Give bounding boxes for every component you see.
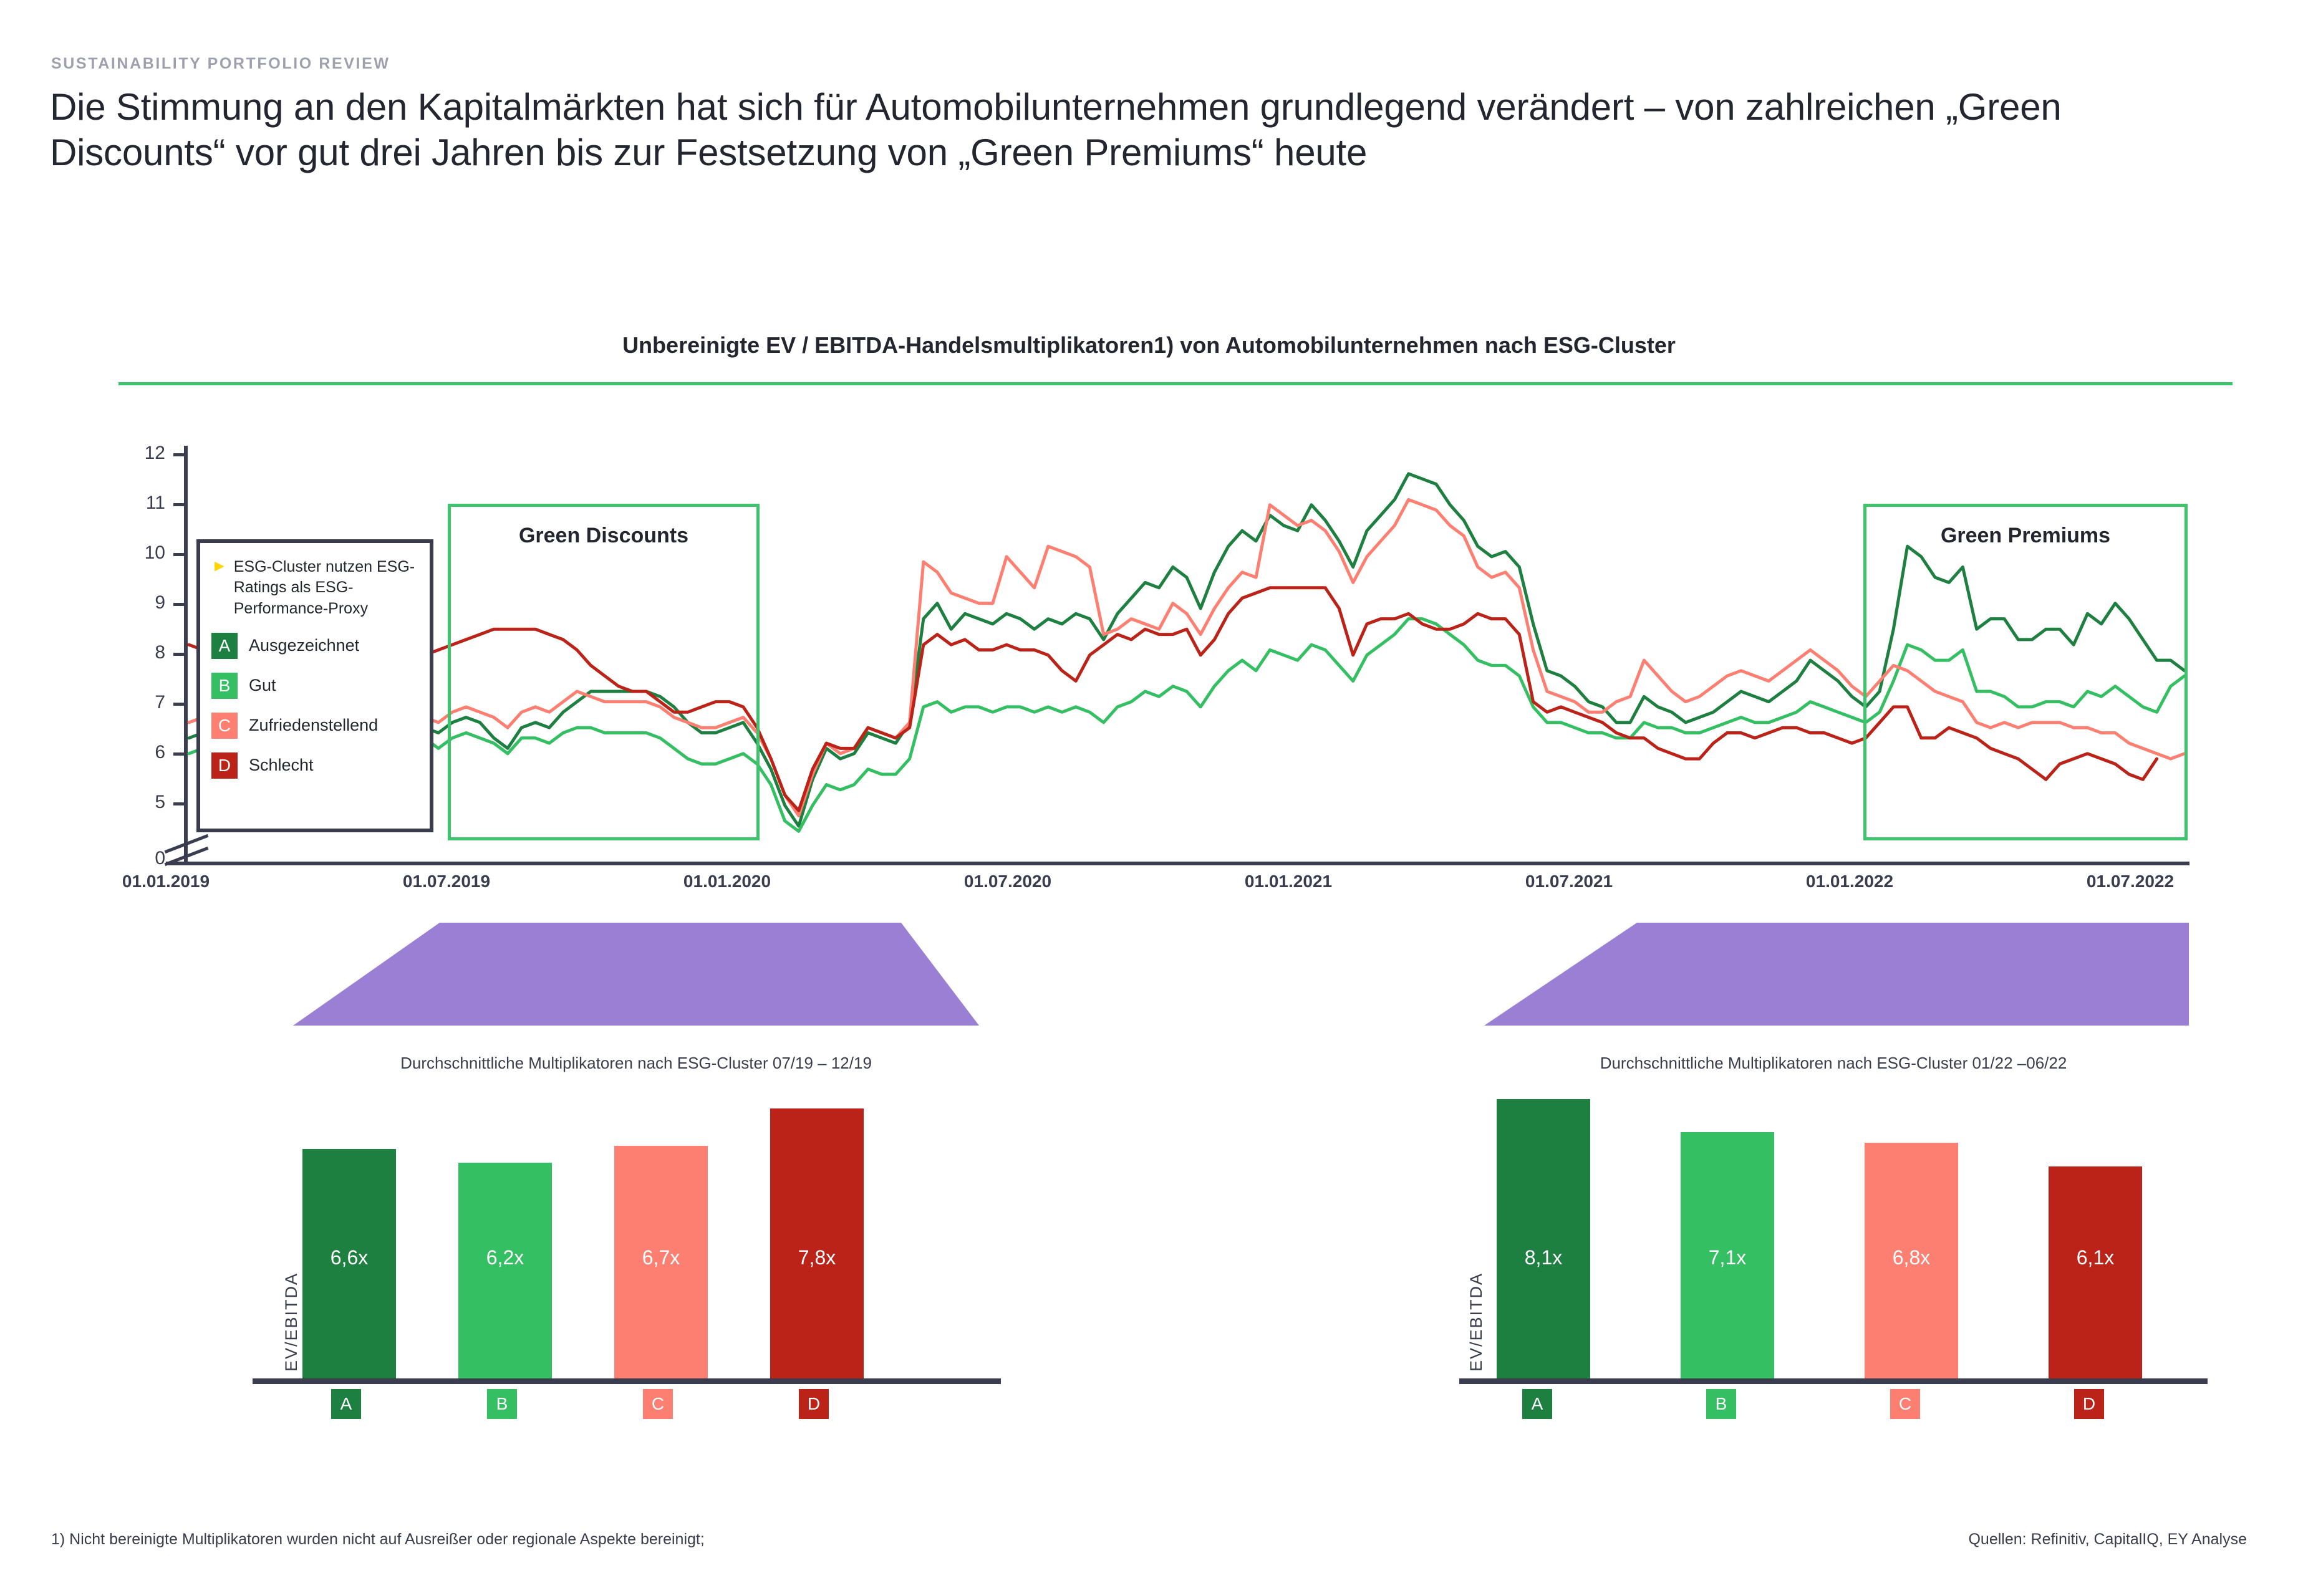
- bar-d[interactable]: 7,8x: [770, 1108, 864, 1378]
- bar-chip-b: B: [1706, 1389, 1736, 1419]
- legend-item-a-label: Ausgezeichnet: [249, 636, 359, 655]
- bar-chip-d: D: [799, 1389, 829, 1419]
- legend-item-c-label: Zufriedenstellend: [249, 716, 378, 735]
- connector-trapezoid-right: [1484, 923, 2189, 1026]
- right-bar-chart: 8,1x 7,1x 6,8x 6,1x: [1459, 1091, 2208, 1384]
- bar-c-value: 6,8x: [1893, 1246, 1930, 1269]
- y-tick-label: 11: [90, 493, 165, 514]
- eyebrow-label: SUSTAINABILITY PORTFOLIO REVIEW: [51, 55, 390, 73]
- legend-item-b-label: Gut: [249, 676, 276, 695]
- y-tick-label: 12: [90, 443, 165, 464]
- cluster-chip-c: C: [211, 713, 238, 739]
- legend-item-a[interactable]: A Ausgezeichnet: [211, 633, 418, 659]
- left-bar-chart-title: Durchschnittliche Multiplikatoren nach E…: [137, 1054, 1135, 1073]
- y-tick-label: 0: [90, 848, 165, 869]
- cluster-chip-a: A: [211, 633, 238, 659]
- y-tick-label: 6: [90, 742, 165, 763]
- bar-chip-c: C: [643, 1389, 673, 1419]
- bar-baseline: [1459, 1378, 2208, 1384]
- bar-a-value: 6,6x: [331, 1246, 368, 1269]
- x-tick-label: 01.01.2021: [1195, 872, 1382, 892]
- bar-b-value: 7,1x: [1709, 1246, 1746, 1269]
- bar-chip-b: B: [487, 1389, 517, 1419]
- page-title: Die Stimmung an den Kapitalmärkten hat s…: [50, 84, 2208, 175]
- x-tick-label: 01.01.2022: [1756, 872, 1943, 892]
- y-tick-label: 8: [90, 642, 165, 663]
- bar-a[interactable]: 6,6x: [302, 1149, 396, 1378]
- right-bar-chart-title: Durchschnittliche Multiplikatoren nach E…: [1335, 1054, 2298, 1073]
- legend-note: ► ESG-Cluster nutzen ESG-Ratings als ESG…: [211, 557, 418, 619]
- accent-divider: [118, 382, 2233, 385]
- bar-baseline: [253, 1378, 1001, 1384]
- legend-item-b[interactable]: B Gut: [211, 673, 418, 699]
- y-tick-mark: [173, 653, 187, 656]
- legend-item-d-label: Schlecht: [249, 756, 314, 775]
- x-tick-label: 01.07.2019: [353, 872, 540, 892]
- legend-note-text: ESG-Cluster nutzen ESG-Ratings als ESG-P…: [234, 557, 418, 619]
- y-tick-mark: [173, 802, 187, 805]
- x-tick-label: 01.07.2021: [1475, 872, 1663, 892]
- x-tick-label: 01.01.2020: [634, 872, 821, 892]
- x-tick-label: 01.01.2019: [72, 872, 259, 892]
- triangle-right-icon: ►: [211, 557, 228, 575]
- callout-green-premiums-label: Green Premiums: [1851, 524, 2200, 548]
- left-bar-chart: 6,6x 6,2x 6,7x 7,8x: [253, 1091, 1001, 1384]
- sources-label: Quellen: Refinitiv, CapitalIQ, EY Analys…: [1968, 1531, 2247, 1549]
- bar-b[interactable]: 7,1x: [1681, 1132, 1774, 1378]
- y-tick-mark: [173, 503, 187, 506]
- bar-chip-c: C: [1890, 1389, 1920, 1419]
- y-tick-label: 5: [90, 792, 165, 813]
- bar-a-value: 8,1x: [1525, 1246, 1562, 1269]
- y-tick-mark: [173, 703, 187, 706]
- footnote: 1) Nicht bereinigte Multiplikatoren wurd…: [51, 1531, 705, 1549]
- bar-d-value: 7,8x: [798, 1246, 836, 1269]
- legend-item-d[interactable]: D Schlecht: [211, 752, 418, 779]
- bar-b[interactable]: 6,2x: [458, 1163, 552, 1378]
- legend-item-c[interactable]: C Zufriedenstellend: [211, 713, 418, 739]
- bar-chip-a: A: [331, 1389, 361, 1419]
- bar-chip-a: A: [1522, 1389, 1552, 1419]
- legend: ► ESG-Cluster nutzen ESG-Ratings als ESG…: [196, 539, 433, 832]
- cluster-chip-b: B: [211, 673, 238, 699]
- x-tick-label: 01.07.2020: [914, 872, 1101, 892]
- bar-b-value: 6,2x: [486, 1246, 524, 1269]
- y-tick-mark: [173, 553, 187, 556]
- callout-green-discounts: [448, 504, 760, 840]
- chart-title: Unbereinigte EV / EBITDA-Handelsmultipli…: [0, 332, 2298, 358]
- y-tick-label: 9: [90, 592, 165, 613]
- y-tick-mark: [173, 603, 187, 606]
- y-tick-label: 10: [90, 542, 165, 564]
- callout-green-premiums: [1863, 504, 2188, 840]
- bar-c[interactable]: 6,7x: [614, 1146, 708, 1378]
- bar-a[interactable]: 8,1x: [1497, 1099, 1590, 1378]
- y-tick-mark: [173, 453, 187, 456]
- x-tick-label: 01.07.2022: [2037, 872, 2224, 892]
- callout-green-discounts-label: Green Discounts: [429, 524, 778, 548]
- bar-d-value: 6,1x: [2077, 1246, 2114, 1269]
- y-tick-mark: [173, 752, 187, 756]
- connector-trapezoid-left: [293, 923, 979, 1026]
- bar-d[interactable]: 6,1x: [2049, 1166, 2142, 1378]
- y-tick-label: 7: [90, 692, 165, 713]
- cluster-chip-d: D: [211, 752, 238, 779]
- bar-c-value: 6,7x: [642, 1246, 680, 1269]
- bar-chip-d: D: [2074, 1389, 2104, 1419]
- bar-c[interactable]: 6,8x: [1865, 1143, 1958, 1378]
